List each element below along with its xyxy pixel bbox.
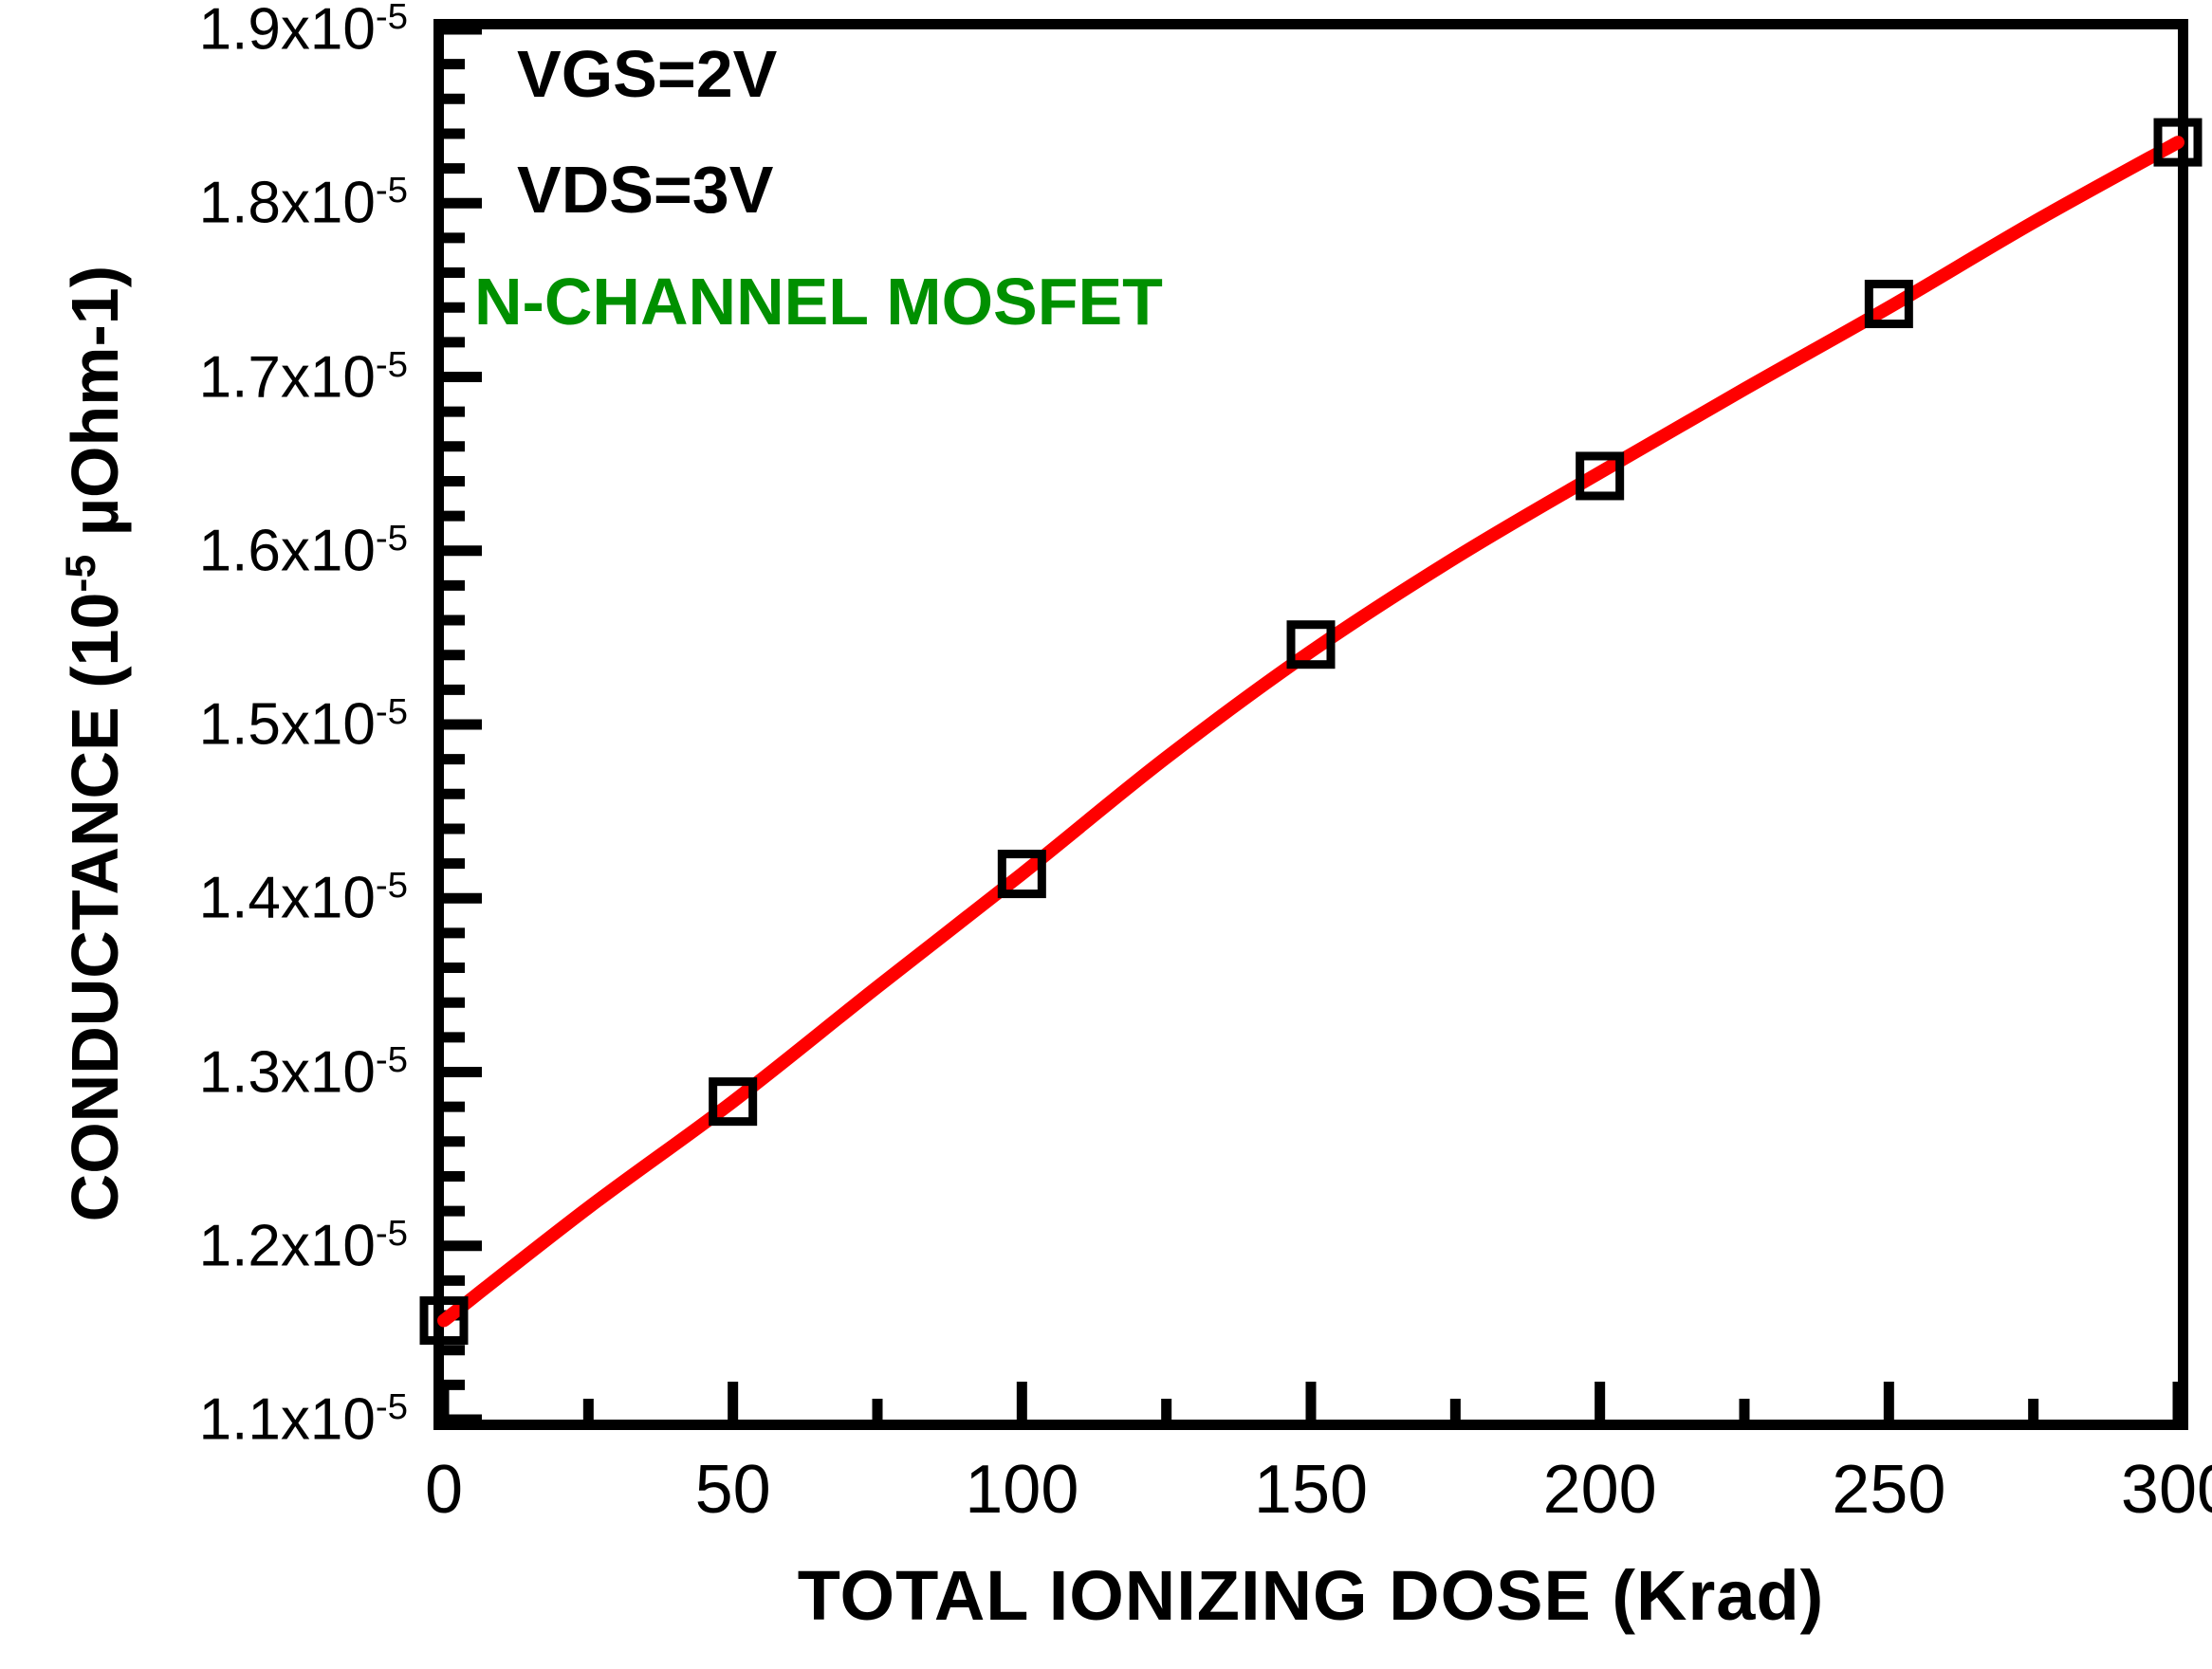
x-axis-title: TOTAL IONIZING DOSE (Krad) [433,1555,2188,1636]
x-tick-label: 300 [2121,1451,2212,1529]
x-tick-label: 150 [1254,1451,1368,1529]
y-axis-title-suffix: µOhm-1) [58,266,132,555]
y-axis-title: CONDUCTANCE (10-5 µOhm-1) [57,42,133,1445]
x-tick-label: 100 [965,1451,1078,1529]
x-tick-label: 50 [695,1451,771,1529]
x-axis-tick-labels: 050100150200250300 [0,0,2212,1669]
annotation-device-type: N-CHANNEL MOSFET [474,264,1163,339]
y-axis-title-prefix: CONDUCTANCE (10 [58,593,132,1222]
x-tick-label: 0 [425,1451,463,1529]
annotation-vds: VDS=3V [517,152,773,228]
x-tick-label: 250 [1832,1451,1945,1529]
annotation-vgs: VGS=2V [517,36,777,112]
x-tick-label: 200 [1543,1451,1657,1529]
y-axis-title-exponent: -5 [57,555,104,593]
